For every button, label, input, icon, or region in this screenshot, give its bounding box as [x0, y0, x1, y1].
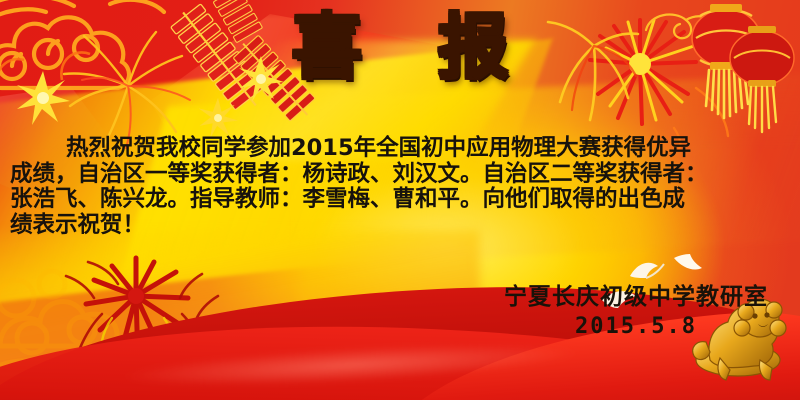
signature-organization: 宁夏长庆初级中学教研室 — [504, 282, 768, 312]
firework-burst-icon — [524, 6, 644, 136]
body-line-4: 绩表示祝贺！ — [10, 213, 790, 239]
body-line-3: 张浩飞、陈兴龙。指导教师：李雪梅、曹和平。向他们取得的出色成 — [10, 187, 790, 213]
announcement-body: 热烈祝贺我校同学参加2015年全国初中应用物理大赛获得优异 成绩，自治区一等奖获… — [10, 136, 790, 238]
signature-date: 2015.5.8 — [504, 313, 768, 341]
body-line-1: 热烈祝贺我校同学参加2015年全国初中应用物理大赛获得优异 — [10, 136, 790, 162]
signature-block: 宁夏长庆初级中学教研室 2015.5.8 — [504, 282, 768, 341]
body-line-2: 成绩，自治区一等奖获得者：杨诗政、刘汉文。自治区二等奖获得者： — [10, 162, 790, 188]
dove-icon — [628, 258, 666, 284]
dove-icon — [670, 252, 704, 276]
good-news-poster: 喜 报 热烈祝贺我校同学参加2015年全国初中应用物理大赛获得优异 成绩，自治区… — [0, 0, 800, 400]
red-lantern-icon — [718, 22, 800, 142]
firework-spark-icon — [236, 54, 286, 104]
